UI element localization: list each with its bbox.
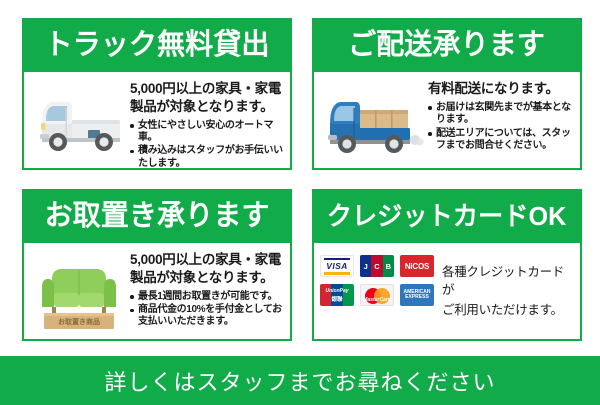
credit-card-logo-row: VISA J C B NiCOS [320,255,438,277]
list-item: お届けは玄関先までが基本となります。 [428,102,574,127]
unionpay-logo-icon: UnionPay 銀聯 [320,284,354,306]
panel-truck-free-rental: トラック無料貸出 [22,18,292,170]
panel-title: ご配送承ります [349,31,546,60]
panel-title: クレジットカードOK [327,203,567,229]
panel-bullet-list: 最長1週間お取置きが可能です。 商品代金の10%を手付金としてお支払いいただきま… [130,291,284,329]
list-item: 配送エリアについては、スタッフまでお問合せください。 [428,128,574,153]
blue-delivery-truck-icon [320,78,426,166]
panel-body-truck-free-rental: 5,000円以上の家具・家電製品が対象となります。 女性にやさしい安心のオートマ… [22,72,292,170]
amex-logo-icon: AMERICANEXPRESS [400,284,434,306]
panel-grid: トラック無料貸出 [0,0,600,355]
visa-logo-label: VISA [326,261,347,271]
panel-body-layaway-hold: お取置き商品 5,000円以上の家具・家電製品が対象となります。 最長1週間お取… [22,243,292,341]
panel-header-delivery-service: ご配送承ります [312,18,582,72]
panel-title: トラック無料貸出 [44,31,269,60]
list-item: 積み込みはスタッフがお手伝いいたします。 [130,145,284,170]
mastercard-logo-icon: MasterCard [360,284,394,306]
unionpay-logo-label: 銀聯 [320,295,354,303]
credit-copy-line-1: 各種クレジットカードが [442,263,574,299]
bottom-banner: 詳しくはスタッフまでお尋ねください [0,356,600,405]
nicos-logo-label: NiCOS [405,262,429,271]
list-item: 商品代金の10%を手付金としてお支払いいただきます。 [130,304,284,329]
nicos-logo-icon: NiCOS [400,255,434,277]
panel-title: お取置き承ります [44,202,269,231]
sofa-platform-label: お取置き商品 [58,317,100,326]
panel-header-credit-card-ok: クレジットカードOK [312,189,582,243]
panel-bullet-list: お届けは玄関先までが基本となります。 配送エリアについては、スタッフまでお問合せ… [428,102,574,153]
credit-copy-line-2: ご利用いただけます。 [442,301,574,319]
panel-header-truck-free-rental: トラック無料貸出 [22,18,292,72]
white-kei-truck-icon [30,78,128,166]
panel-header-layaway-hold: お取置き承ります [22,189,292,243]
jcb-logo-icon: J C B [360,255,394,277]
list-item: 最長1週間お取置きが可能です。 [130,291,284,303]
promotional-poster: トラック無料貸出 [0,0,600,405]
list-item: 女性にやさしい安心のオートマ車。 [130,120,284,145]
panel-body-delivery-service: 有料配送になります。 お届けは玄関先までが基本となります。 配送エリアについては… [312,72,582,170]
panel-delivery-service: ご配送承ります [312,18,582,170]
panel-copy-delivery-service: 有料配送になります。 お届けは玄関先までが基本となります。 配送エリアについては… [426,78,574,153]
bottom-banner-text: 詳しくはスタッフまでお尋ねください [104,365,495,397]
panel-lead: 5,000円以上の家具・家電製品が対象となります。 [130,80,284,116]
panel-copy-layaway-hold: 5,000円以上の家具・家電製品が対象となります。 最長1週間お取置きが可能です… [128,249,284,330]
visa-logo-icon: VISA [320,255,354,277]
credit-card-logo-row: UnionPay 銀聯 MasterCard AMERICANEXPRESS [320,284,438,306]
panel-copy-credit-card-ok: 各種クレジットカードが ご利用いただけます。 [438,249,574,321]
panel-lead: 5,000円以上の家具・家電製品が対象となります。 [130,251,284,287]
panel-body-credit-card-ok: VISA J C B NiCOS [312,243,582,341]
green-sofa-icon: お取置き商品 [30,249,128,337]
panel-bullet-list: 女性にやさしい安心のオートマ車。 積み込みはスタッフがお手伝いいたします。 [130,120,284,170]
panel-copy-truck-free-rental: 5,000円以上の家具・家電製品が対象となります。 女性にやさしい安心のオートマ… [128,78,284,170]
credit-card-logo-group: VISA J C B NiCOS [320,249,438,313]
panel-credit-card-ok: クレジットカードOK VISA J C B [312,189,582,341]
panel-lead: 有料配送になります。 [428,80,574,98]
panel-layaway-hold: お取置き承ります [22,189,292,341]
